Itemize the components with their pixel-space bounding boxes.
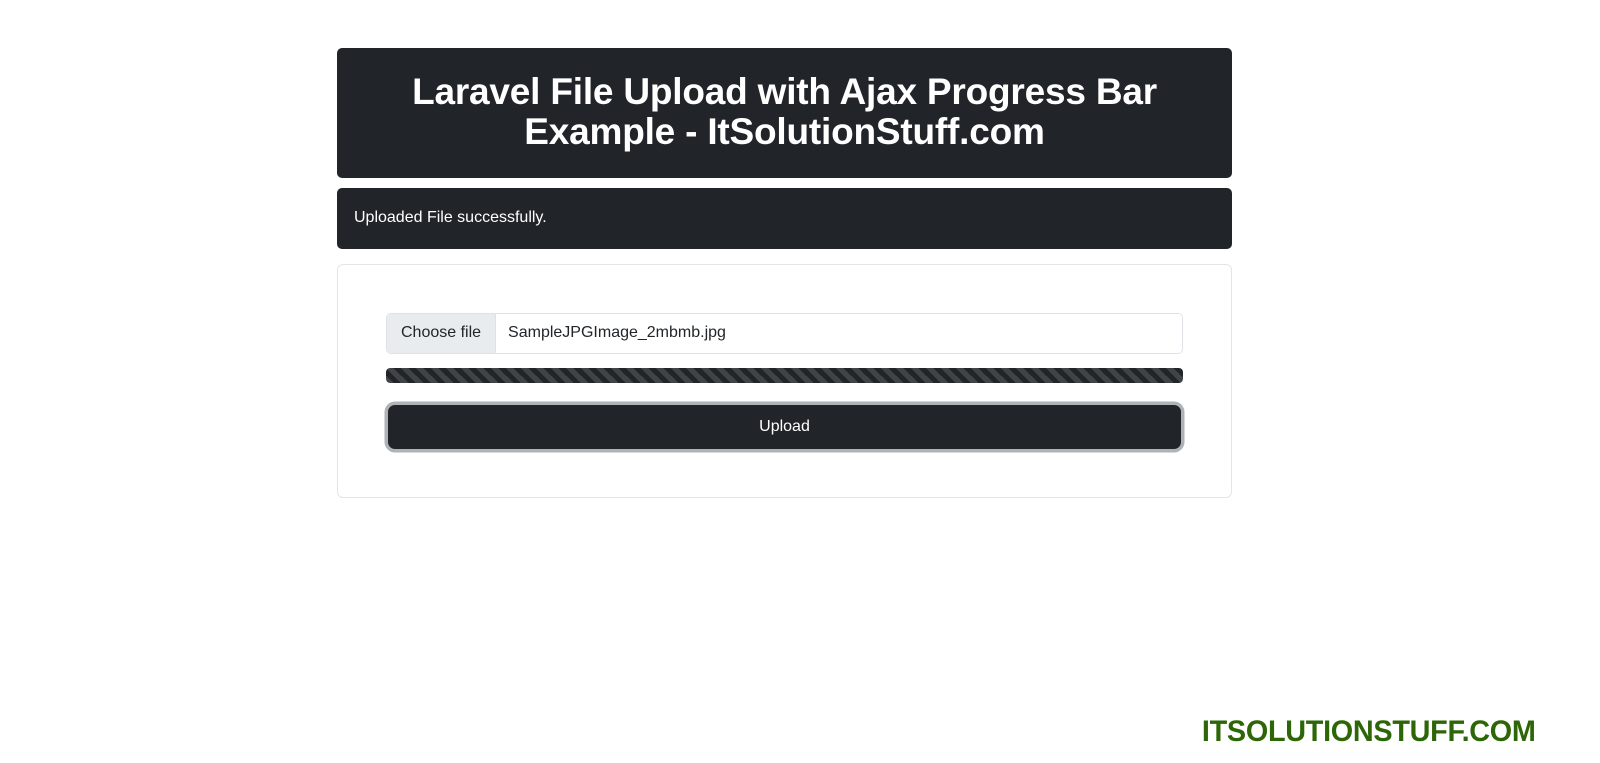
- site-watermark: ITSOLUTIONSTUFF.COM: [1202, 715, 1536, 749]
- choose-file-button[interactable]: Choose file: [387, 314, 496, 353]
- upload-progress-bar: [386, 368, 1183, 383]
- selected-filename: SampleJPGImage_2mbmb.jpg: [496, 314, 1182, 353]
- file-input-group[interactable]: Choose file SampleJPGImage_2mbmb.jpg: [386, 313, 1183, 354]
- status-alert: Uploaded File successfully.: [337, 188, 1232, 249]
- page-container: Laravel File Upload with Ajax Progress B…: [337, 48, 1232, 498]
- page-title: Laravel File Upload with Ajax Progress B…: [377, 72, 1192, 152]
- upload-progress-track: [386, 368, 1183, 383]
- page-header: Laravel File Upload with Ajax Progress B…: [337, 48, 1232, 178]
- upload-button-wrapper: Upload: [386, 405, 1183, 449]
- upload-button[interactable]: Upload: [388, 405, 1181, 449]
- upload-card: Choose file SampleJPGImage_2mbmb.jpg Upl…: [337, 264, 1232, 498]
- alert-message: Uploaded File successfully.: [354, 209, 547, 227]
